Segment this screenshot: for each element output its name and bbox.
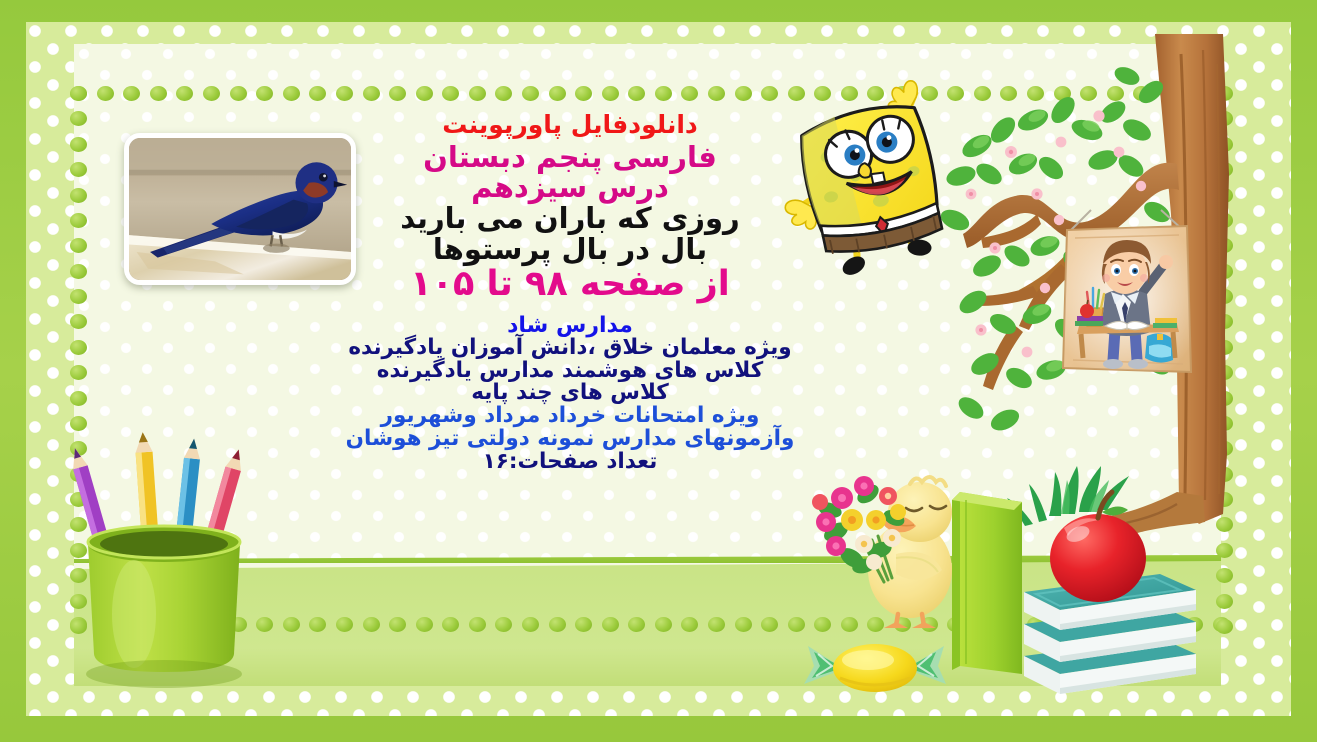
border-bead (70, 137, 87, 152)
hanging-school-sign (1031, 208, 1221, 388)
exams: ویژه امتحانات خرداد مرداد وشهریور (310, 405, 830, 428)
border-bead (256, 617, 273, 632)
border-bead (522, 617, 539, 632)
sample-schools: وآزمونهای مدارس نمونه دولتی تیز هوشان (310, 428, 830, 451)
text-spacer (310, 304, 830, 308)
shad-schools: مدارس شاد (310, 314, 830, 337)
border-bead (70, 264, 87, 279)
page-count: تعداد صفحات:۱۶ (310, 451, 830, 474)
border-bead (628, 617, 645, 632)
border-bead (442, 86, 459, 101)
border-bead (655, 617, 672, 632)
border-bead (363, 617, 380, 632)
border-bead (708, 86, 725, 101)
border-bead (575, 617, 592, 632)
border-bead (70, 391, 87, 406)
border-bead (150, 86, 167, 101)
border-bead (70, 340, 87, 355)
border-bead (70, 238, 87, 253)
pencil-cup (72, 424, 256, 694)
for-teachers: ویژه معلمان خلاق ،دانش آموزان یادگیرنده (310, 337, 830, 360)
border-bead (628, 86, 645, 101)
border-bead (336, 617, 353, 632)
border-bead (309, 617, 326, 632)
border-bead (97, 86, 114, 101)
border-bead (735, 86, 752, 101)
border-bead (549, 86, 566, 101)
border-bead (681, 617, 698, 632)
border-bead (70, 111, 87, 126)
border-bead (70, 86, 87, 101)
border-bead (389, 86, 406, 101)
border-bead (70, 314, 87, 329)
border-bead (602, 617, 619, 632)
border-bead (788, 617, 805, 632)
border-bead (575, 86, 592, 101)
border-bead (203, 86, 220, 101)
border-bead (389, 617, 406, 632)
slide-text-block: دانلودفایل پاورپوینت فارسی پنجم دبستان د… (310, 112, 830, 474)
border-bead (655, 86, 672, 101)
border-bead (70, 162, 87, 177)
border-bead (602, 86, 619, 101)
border-bead (70, 365, 87, 380)
stacked-books-with-apple (944, 488, 1206, 710)
border-bead (309, 86, 326, 101)
multigrade: کلاس های چند پایه (310, 382, 830, 405)
download-label: دانلودفایل پاورپوینت (310, 112, 830, 139)
border-bead (416, 617, 433, 632)
border-bead (681, 86, 698, 101)
border-bead (708, 617, 725, 632)
page-range: از صفحه ۹۸ تا ۱۰۵ (310, 266, 830, 303)
border-bead (469, 617, 486, 632)
border-bead (363, 86, 380, 101)
slide-canvas: دانلودفایل پاورپوینت فارسی پنجم دبستان د… (0, 0, 1317, 742)
border-bead (70, 289, 87, 304)
border-bead (70, 213, 87, 228)
border-bead (495, 86, 512, 101)
border-bead (735, 617, 752, 632)
border-bead (283, 86, 300, 101)
border-bead (549, 617, 566, 632)
border-bead (416, 86, 433, 101)
border-bead (70, 188, 87, 203)
border-bead (761, 617, 778, 632)
lesson-title-1: روزی که باران می بارید (310, 203, 830, 234)
subject-grade: فارسی پنجم دبستان (310, 142, 830, 173)
border-bead (522, 86, 539, 101)
border-bead (176, 86, 193, 101)
lesson-title-2: بال در بال پرستوها (310, 234, 830, 265)
wrapped-candy (800, 634, 950, 700)
border-bead (230, 86, 247, 101)
border-bead (469, 86, 486, 101)
border-bead (442, 617, 459, 632)
lesson-number: درس سیزدهم (310, 172, 830, 203)
border-bead (123, 86, 140, 101)
border-bead (256, 86, 273, 101)
border-bead (495, 617, 512, 632)
border-bead (283, 617, 300, 632)
border-bead (336, 86, 353, 101)
smart-classes: کلاس های هوشمند مدارس یادگیرنده (310, 360, 830, 383)
